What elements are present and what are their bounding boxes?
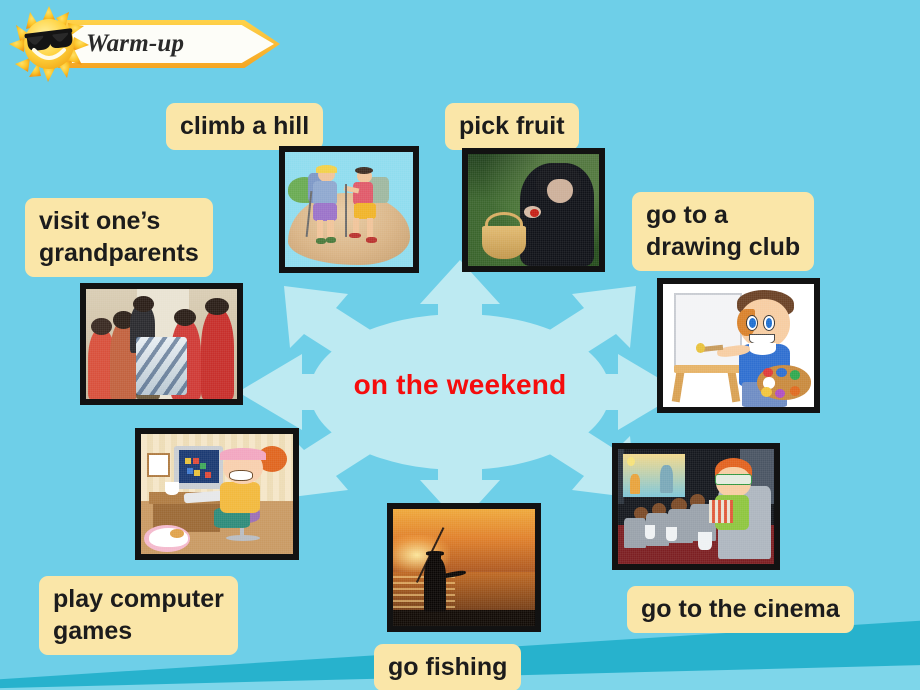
image-pick-fruit	[462, 148, 605, 272]
label-drawing-club[interactable]: go to a drawing club	[632, 192, 814, 271]
label-pick-fruit[interactable]: pick fruit	[445, 103, 579, 150]
image-drawing-club	[657, 278, 820, 413]
image-computer-games	[135, 428, 299, 560]
label-climb-a-hill[interactable]: climb a hill	[166, 103, 323, 150]
warm-up-banner: Warm-up	[6, 4, 286, 84]
image-go-fishing	[387, 503, 541, 632]
center-topic-text: on the weekend	[232, 362, 688, 408]
label-cinema[interactable]: go to the cinema	[627, 586, 854, 633]
image-visit-grandparents	[80, 283, 243, 405]
slide-canvas: on the weekend Warm-up	[0, 0, 920, 690]
image-climb-a-hill	[279, 146, 419, 273]
label-computer-games[interactable]: play computer games	[39, 576, 238, 655]
banner-ribbon-inner: Warm-up	[72, 25, 274, 63]
image-cinema	[612, 443, 780, 570]
label-go-fishing[interactable]: go fishing	[374, 644, 521, 690]
sun-with-sunglasses-icon	[8, 6, 90, 82]
label-visit-grandparents[interactable]: visit one’s grandparents	[25, 198, 213, 277]
